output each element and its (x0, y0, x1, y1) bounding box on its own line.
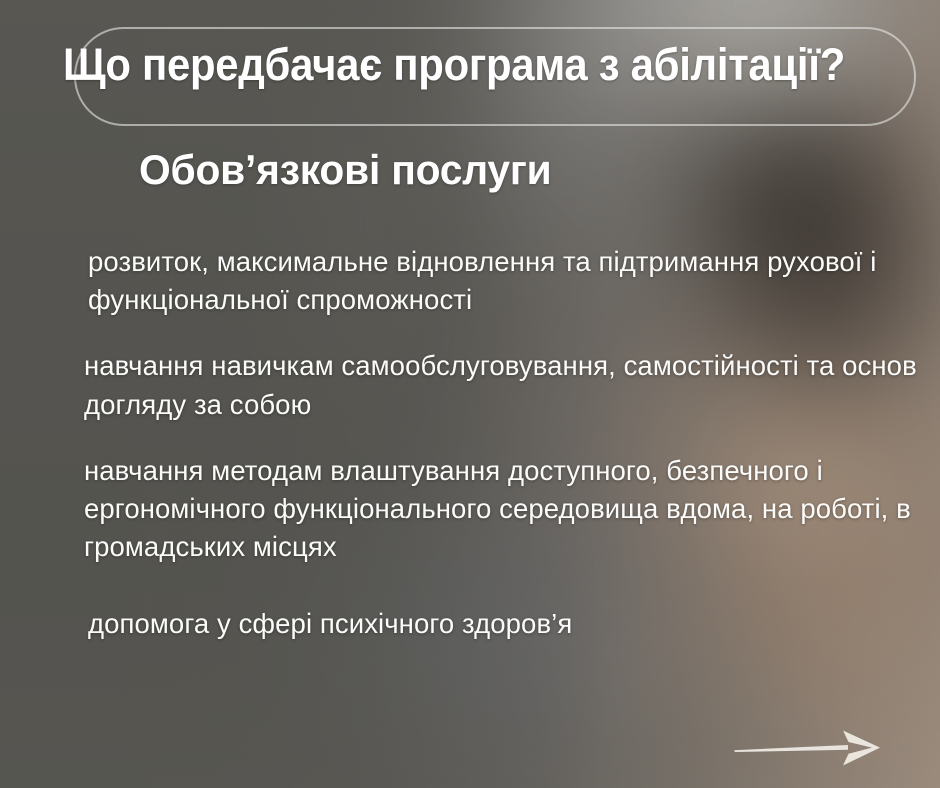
list-item: навчання методам влаштування доступного,… (84, 452, 930, 567)
page-title: Що передбачає програма з абілітації? (63, 41, 863, 90)
list-item: навчання навичкам самообслуговування, са… (84, 347, 930, 423)
list-item: розвиток, максимальне відновлення та під… (84, 243, 930, 319)
arrow-right-icon[interactable] (730, 726, 890, 770)
services-list: розвиток, максимальне відновлення та під… (84, 243, 930, 671)
section-subtitle: Обов’язкові послуги (139, 146, 551, 193)
list-item: допомога у сфері психічного здоров’я (84, 605, 930, 643)
slide-canvas: Що передбачає програма з абілітації? Обо… (0, 0, 940, 788)
